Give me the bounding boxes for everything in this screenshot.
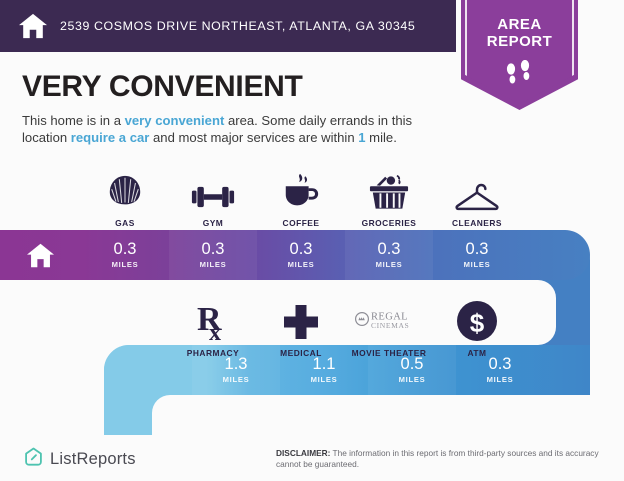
area-report-infographic: 2539 COSMOS DRIVE NORTHEAST, ATLANTA, GA… — [0, 0, 624, 481]
badge-label-line1: AREA — [461, 16, 578, 33]
brand-logo[interactable]: ListReports — [24, 447, 136, 472]
disclaimer: DISCLAIMER: The information in this repo… — [276, 448, 606, 471]
shopping-basket-icon — [345, 168, 433, 212]
amenity-label: CLEANERS — [433, 218, 521, 228]
amenity-cleaners: CLEANERS — [433, 168, 521, 228]
distance-cell-coffee: 0.3 MILES — [257, 230, 345, 280]
amenity-label: ATM — [433, 348, 521, 358]
svg-text:$: $ — [470, 308, 485, 338]
badge-label: AREA REPORT — [461, 16, 578, 50]
distance-value: 0.5 — [401, 356, 424, 373]
amenity-label: GROCERIES — [345, 218, 433, 228]
amenity-label: MOVIE THEATER — [345, 348, 433, 358]
page-description: This home is in a very convenient area. … — [22, 112, 446, 146]
listreports-house-icon — [24, 447, 43, 472]
amenity-label: MEDICAL — [257, 348, 345, 358]
distance-cell-gym: 0.3 MILES — [169, 230, 257, 280]
distance-unit: MILES — [112, 260, 139, 269]
ribbon-right-turn-cutout — [520, 280, 556, 345]
brand-name: ListReports — [50, 450, 136, 469]
amenity-gym: GYM — [169, 168, 257, 228]
rx-icon: R x — [169, 298, 257, 342]
distance-unit: MILES — [288, 260, 315, 269]
distance-value: 0.3 — [489, 356, 512, 373]
coffee-cup-icon — [257, 168, 345, 212]
amenity-icon-row-1: GAS GYM — [81, 168, 521, 228]
desc-highlight-convenience: very convenient — [125, 113, 225, 128]
desc-part4: mile. — [366, 130, 397, 145]
dumbbell-icon — [169, 168, 257, 212]
amenity-pharmacy: R x PHARMACY — [169, 298, 257, 358]
distance-value: 1.1 — [313, 356, 336, 373]
home-icon — [0, 230, 81, 280]
amenity-coffee: COFFEE — [257, 168, 345, 228]
dollar-circle-icon: $ — [433, 298, 521, 342]
distance-unit: MILES — [200, 260, 227, 269]
property-address: 2539 COSMOS DRIVE NORTHEAST, ATLANTA, GA… — [60, 19, 415, 33]
disclaimer-label: DISCLAIMER: — [276, 448, 330, 458]
distance-unit: MILES — [223, 375, 250, 384]
ribbon-left-turn-cutout — [152, 395, 192, 455]
distance-value: 0.3 — [290, 241, 313, 258]
footprints-icon — [461, 60, 578, 95]
header-bar: 2539 COSMOS DRIVE NORTHEAST, ATLANTA, GA… — [0, 0, 456, 52]
distance-unit: MILES — [464, 260, 491, 269]
svg-text:CINEMAS: CINEMAS — [371, 321, 409, 330]
desc-highlight-car: require a car — [71, 130, 150, 145]
distance-value: 0.3 — [202, 241, 225, 258]
amenity-label: PHARMACY — [169, 348, 257, 358]
distance-unit: MILES — [399, 375, 426, 384]
distance-unit: MILES — [311, 375, 338, 384]
svg-text:x: x — [209, 320, 221, 342]
desc-part1: This home is in a — [22, 113, 125, 128]
distance-unit: MILES — [487, 375, 514, 384]
distance-value: 1.3 — [225, 356, 248, 373]
desc-part3: and most major services are within — [149, 130, 358, 145]
distance-value: 0.3 — [378, 241, 401, 258]
regal-cinemas-logo: REGAL CINEMAS — [345, 298, 433, 342]
amenity-label: GYM — [169, 218, 257, 228]
distance-cell-cleaners: 0.3 MILES — [433, 230, 521, 280]
amenity-icon-row-2: R x PHARMACY MEDICAL REGAL CINEMAS — [169, 298, 521, 358]
distance-cell-groceries: 0.3 MILES — [345, 230, 433, 280]
home-icon — [18, 12, 48, 40]
distance-unit: MILES — [376, 260, 403, 269]
medical-cross-icon — [257, 298, 345, 342]
distance-cell-gas: 0.3 MILES — [81, 230, 169, 280]
amenity-gas: GAS — [81, 168, 169, 228]
amenity-label: COFFEE — [257, 218, 345, 228]
amenity-movie-theater: REGAL CINEMAS MOVIE THEATER — [345, 298, 433, 358]
clothes-hanger-icon — [433, 168, 521, 212]
shell-gas-icon — [81, 168, 169, 212]
amenity-medical: MEDICAL — [257, 298, 345, 358]
amenity-label: GAS — [81, 218, 169, 228]
amenity-atm: $ ATM — [433, 298, 521, 358]
distance-value: 0.3 — [114, 241, 137, 258]
badge-label-line2: REPORT — [461, 33, 578, 50]
desc-highlight-miles: 1 — [358, 130, 365, 145]
distance-segments-row-1: 0.3 MILES 0.3 MILES 0.3 MILES 0.3 MILES … — [0, 230, 521, 280]
distance-value: 0.3 — [466, 241, 489, 258]
amenity-groceries: GROCERIES — [345, 168, 433, 228]
page-title: VERY CONVENIENT — [22, 70, 303, 104]
